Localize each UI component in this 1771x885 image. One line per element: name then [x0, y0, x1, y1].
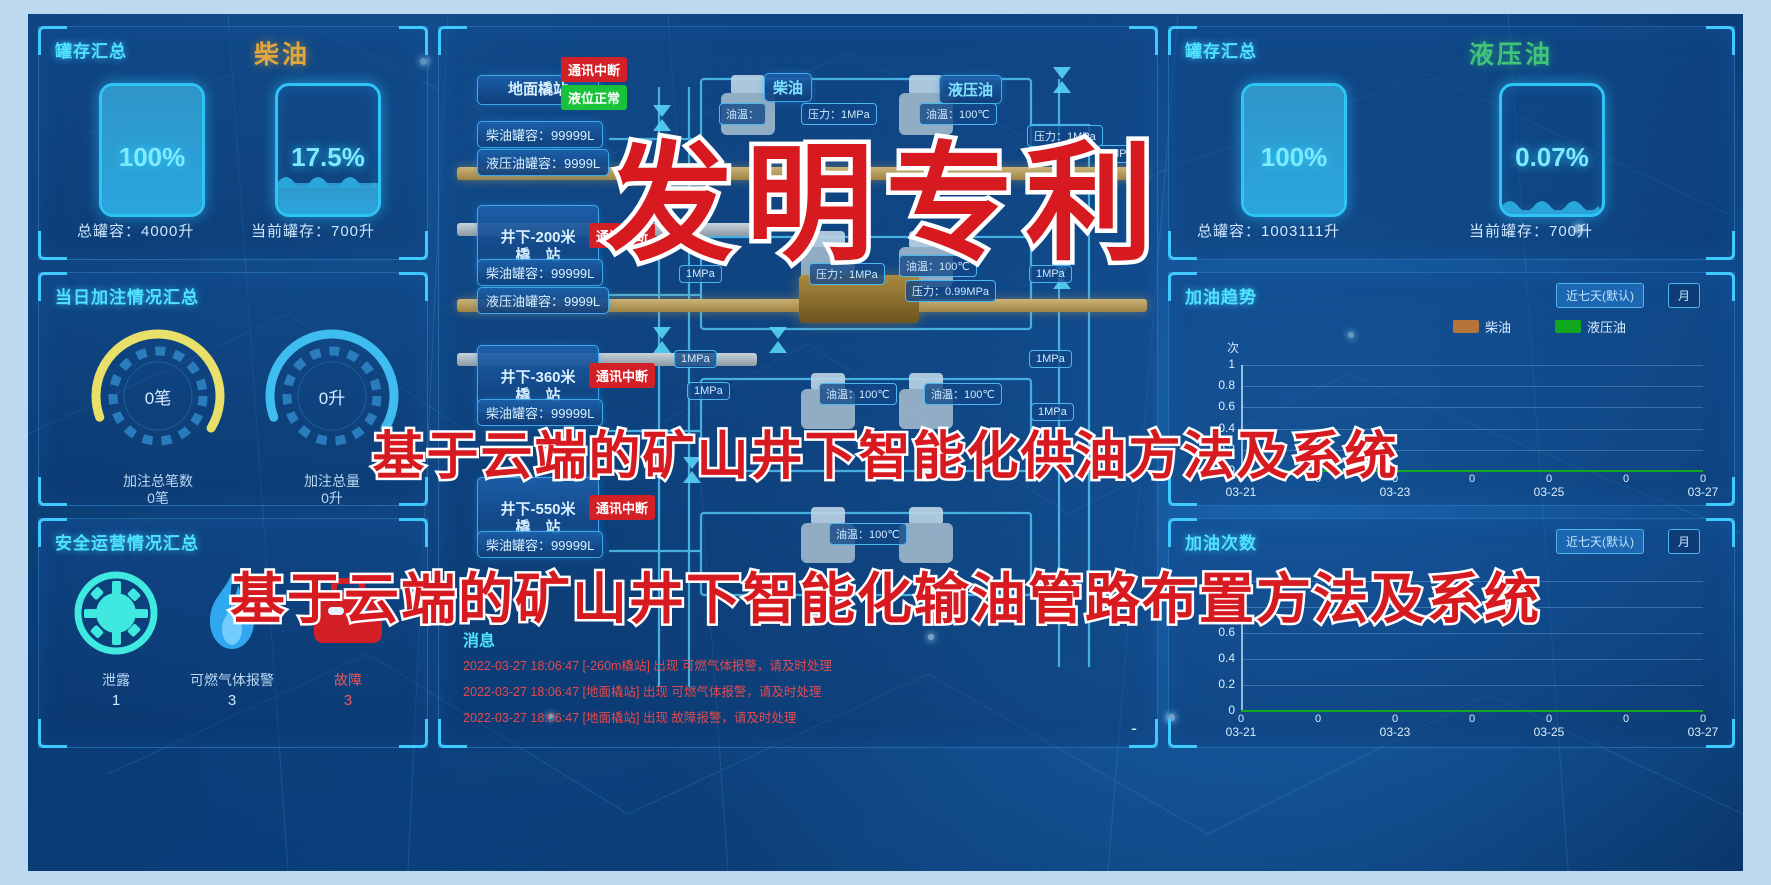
watermark-title-line1: 基于云端的矿山井下智能化供油方法及系统	[28, 414, 1743, 489]
station-badge-360-comm: 通讯中断	[589, 363, 655, 388]
right-tank-panel-subtitle: 液压油	[1469, 35, 1553, 71]
safety-label-leak: 泄露	[51, 670, 181, 690]
refuel-trend-title: 加油趋势	[1185, 283, 1257, 308]
watermark-patent: 发明专利	[28, 100, 1743, 285]
refuel-count-caption-line2: 0笔	[83, 490, 233, 507]
process-tag-18: 油温：100℃	[829, 523, 907, 545]
safety-count-fault: 3	[283, 692, 413, 709]
process-tag-15: 油温：100℃	[819, 383, 897, 405]
process-tag-12: 1MPa	[674, 350, 717, 368]
refuel-count-title: 加油次数	[1185, 529, 1257, 554]
watermark-title-line2: 基于云端的矿山井下智能化输油管路布置方法及系统	[28, 554, 1743, 634]
safety-panel-title: 安全运营情况汇总	[55, 529, 199, 554]
message-line: 2022-03-27 18:06:47 [-260m橇站] 出现 可燃气体报警，…	[463, 655, 832, 674]
right-tank-panel-title: 罐存汇总	[1185, 37, 1257, 62]
station-badge-550-comm: 通讯中断	[589, 495, 655, 520]
safety-label-fault: 故障	[283, 670, 413, 690]
station-tag-200-hydraulic: 液压油罐容：9999L	[477, 287, 609, 314]
trend-range-week-button[interactable]: 近七天(默认)	[1556, 283, 1644, 308]
dashboard-screen: 罐存汇总 柴油 100% 总罐容：4000升 17.5% 当前罐存：700升 当…	[0, 0, 1771, 885]
legend-swatch-diesel	[1453, 320, 1479, 333]
legend-diesel[interactable]: 柴油	[1453, 317, 1511, 336]
message-line: 2022-03-27 18:06:47 [地面橇站] 出现 可燃气体报警，请及时…	[463, 681, 821, 700]
safety-count-leak: 1	[51, 692, 181, 709]
process-tag-0: 柴油	[764, 73, 812, 102]
daily-refuel-panel-title: 当日加注情况汇总	[55, 283, 199, 308]
process-tag-16: 油温：100℃	[924, 383, 1002, 405]
zoom-out-button[interactable]: -	[1131, 718, 1137, 739]
legend-label-hydraulic: 液压油	[1587, 317, 1626, 336]
refuel-volume-caption-line2: 0升	[257, 490, 407, 507]
trend-y-axis-unit: 次	[1227, 339, 1239, 356]
message-line: 2022-03-27 18:06:47 [地面橇站] 出现 故障报警，请及时处理	[463, 707, 796, 726]
process-tag-13: 1MPa	[1029, 350, 1072, 368]
legend-hydraulic[interactable]: 液压油	[1555, 317, 1626, 336]
station-badge-ground-comm: 通讯中断	[561, 57, 627, 82]
safety-count-gas-alarm: 3	[167, 692, 297, 709]
left-tank-panel-title: 罐存汇总	[55, 37, 127, 62]
station-name-ground: 地面橇站	[508, 81, 568, 98]
legend-swatch-hydraulic	[1555, 320, 1581, 333]
safety-label-gas-alarm: 可燃气体报警	[167, 670, 297, 690]
dashboard-stage: 罐存汇总 柴油 100% 总罐容：4000升 17.5% 当前罐存：700升 当…	[28, 14, 1743, 871]
count-range-month-button[interactable]: 月	[1668, 529, 1700, 554]
left-tank-panel-subtitle: 柴油	[254, 35, 310, 71]
count-range-week-button[interactable]: 近七天(默认)	[1556, 529, 1644, 554]
legend-label-diesel: 柴油	[1485, 317, 1511, 336]
process-tag-14: 1MPa	[687, 382, 730, 400]
trend-range-month-button[interactable]: 月	[1668, 283, 1700, 308]
